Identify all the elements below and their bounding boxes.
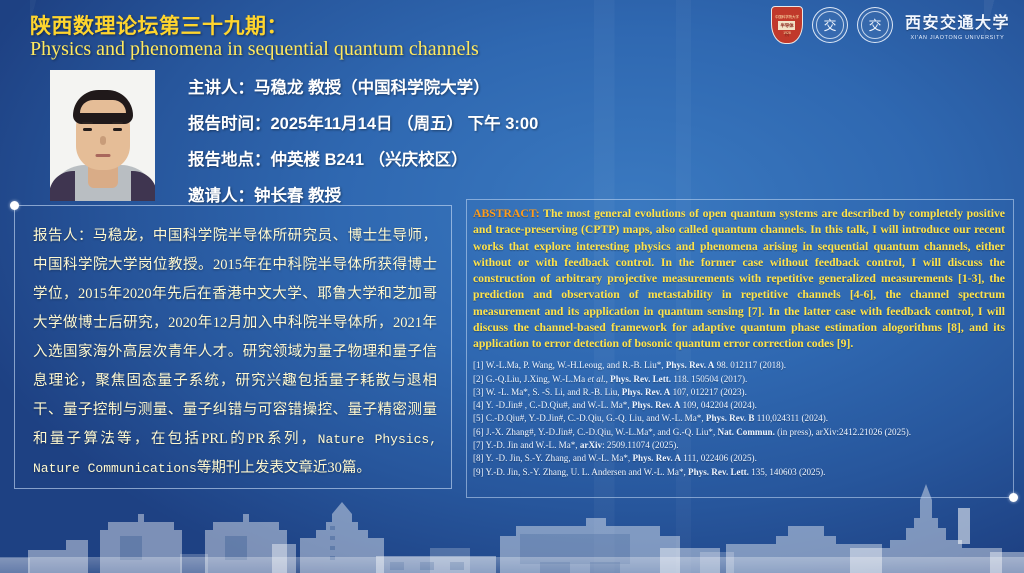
ref-authors: Y. -D.Jin# , C.-D.Qiu#, and W.-L. Ma*, — [486, 400, 632, 410]
ref-journal: Nat. Commun. — [718, 427, 775, 437]
ref-journal: Phys. Rev. A — [632, 400, 681, 410]
ref-journal: Phys. Rev. Lett. — [610, 374, 671, 384]
ref-detail: 135, 140603 (2025). — [749, 467, 826, 477]
ref-number: [1] — [473, 360, 484, 370]
ref-journal: Phys. Rev. A — [666, 360, 715, 370]
wordmark-english: XI'AN JIAOTONG UNIVERSITY — [911, 35, 1005, 41]
portrait-mouth — [95, 154, 110, 157]
ref-number: [3] — [473, 387, 484, 397]
reference-item: [6] J.-X. Zhang#, Y.-D.Jin#, C.-D.Qiu, W… — [473, 426, 1005, 439]
ref-journal: Phys. Rev. B — [706, 413, 755, 423]
ref-detail: : 2509.11074 (2025). — [602, 440, 678, 450]
ref-authors: C.-D.Qiu#, Y.-D.Jin#, C.-D.Qiu, G.-Q. Li… — [486, 413, 706, 423]
ref-detail: 109, 042204 (2024). — [680, 400, 757, 410]
reference-item: [8] Y. -D. Jin, S.-Y. Zhang, and W.-L. M… — [473, 452, 1005, 465]
seal-mark-icon: 交 — [823, 19, 836, 32]
reference-item: [1] W.-L.Ma, P. Wang, W.-H.Leoug, and R.… — [473, 359, 1005, 372]
ref-authors: Y.-D. Jin and W.-L. Ma*, — [486, 440, 580, 450]
ref-number: [5] — [473, 413, 484, 423]
bio-corner-dot — [10, 201, 19, 210]
seminar-poster: 陕西数理论坛第三十九期： Physics and phenomena in se… — [0, 0, 1024, 573]
portrait-eye-right — [113, 128, 122, 131]
reference-item: [4] Y. -D.Jin# , C.-D.Qiu#, and W.-L. Ma… — [473, 399, 1005, 412]
abstract-body: The most general evolutions of open quan… — [473, 207, 1005, 350]
page-title-english: Physics and phenomena in sequential quan… — [30, 38, 479, 61]
ref-detail: 107, 012217 (2023). — [670, 387, 747, 397]
university-seal-2: 交 — [857, 7, 893, 43]
info-location: 报告地点：仲英楼 B241 （兴庆校区） — [188, 146, 538, 170]
ref-journal: arXiv — [580, 440, 602, 450]
institute-shield-logo: 中国科学院大学 半导体所 1928 — [771, 6, 803, 44]
abstract-text: ABSTRACT: The most general evolutions of… — [473, 206, 1005, 352]
abstract-label: ABSTRACT: — [473, 207, 540, 220]
reference-item: [2] G.-Q.Liu, J.Xing, W.-L.Ma et al., Ph… — [473, 373, 1005, 386]
ref-number: [8] — [473, 453, 484, 463]
ref-number: [4] — [473, 400, 484, 410]
speaker-portrait-photo — [50, 70, 155, 201]
reference-item: [9] Y.-D. Jin, S.-Y. Zhang, U. L. Anders… — [473, 466, 1005, 479]
ref-journal: Phys. Rev. A — [622, 387, 671, 397]
biography-text: 报告人：马稳龙，中国科学院半导体所研究员、博士生导师，中国科学院大学岗位教授。2… — [15, 206, 451, 483]
ref-authors: W. -L. Ma*, S. -S. Li, and R.-B. Liu, — [486, 387, 622, 397]
ref-journal: Phys. Rev. A — [632, 453, 681, 463]
ref-authors: J.-X. Zhang#, Y.-D.Jin#, C.-D.Qiu, W.-L.… — [486, 427, 718, 437]
university-seal-1: 交 — [812, 7, 848, 43]
seminar-info-block: 主讲人：马稳龙 教授（中国科学院大学） 报告时间：2025年11月14日 （周五… — [188, 74, 538, 218]
reference-item: [3] W. -L. Ma*, S. -S. Li, and R.-B. Liu… — [473, 386, 1005, 399]
shield-top-text: 中国科学院大学 — [775, 15, 799, 19]
ref-authors: Y. -D. Jin, S.-Y. Zhang, and W.-L. Ma*, — [486, 453, 633, 463]
page-title-chinese: 陕西数理论坛第三十九期： — [30, 10, 288, 40]
ref-detail: 98. 012117 (2018). — [714, 360, 786, 370]
skyline-ground — [0, 557, 1024, 573]
abstract-corner-dot — [1009, 493, 1018, 502]
ref-number: [2] — [473, 374, 484, 384]
ref-authors: Y.-D. Jin, S.-Y. Zhang, U. L. Andersen a… — [486, 467, 689, 477]
info-time: 报告时间：2025年11月14日 （周五） 下午 3:00 — [188, 110, 538, 134]
reference-list: [1] W.-L.Ma, P. Wang, W.-H.Leoug, and R.… — [473, 359, 1005, 478]
ref-etal: et al. — [587, 374, 605, 384]
ref-number: [9] — [473, 467, 484, 477]
logo-group: 中国科学院大学 半导体所 1928 交 交 西安交通大学 XI'AN JIAOT… — [771, 6, 1010, 44]
portrait-eye-left — [83, 128, 92, 131]
speaker-biography-box: 报告人：马稳龙，中国科学院半导体所研究员、博士生导师，中国科学院大学岗位教授。2… — [14, 205, 452, 489]
reference-item: [5] C.-D.Qiu#, Y.-D.Jin#, C.-D.Qiu, G.-Q… — [473, 412, 1005, 425]
bio-paragraph-1: 报告人：马稳龙，中国科学院半导体所研究员、博士生导师，中国科学院大学岗位教授。2… — [33, 228, 437, 447]
ref-journal: Phys. Rev. Lett. — [688, 467, 749, 477]
reference-item: [7] Y.-D. Jin and W.-L. Ma*, arXiv: 2509… — [473, 439, 1005, 452]
university-wordmark: 西安交通大学 XI'AN JIAOTONG UNIVERSITY — [905, 9, 1010, 41]
shield-box-text: 半导体所 — [778, 21, 795, 30]
ref-detail: (in press), arXiv:2412.21026 (2025). — [775, 427, 911, 437]
bio-paragraph-2: 等期刊上发表文章近30篇。 — [197, 460, 371, 476]
wordmark-chinese: 西安交通大学 — [905, 9, 1010, 33]
seal-mark-icon: 交 — [868, 19, 881, 32]
portrait-hair — [73, 90, 133, 124]
abstract-box: ABSTRACT: The most general evolutions of… — [466, 199, 1014, 498]
ref-number: [7] — [473, 440, 484, 450]
shield-year: 1928 — [783, 31, 791, 35]
info-speaker: 主讲人：马稳龙 教授（中国科学院大学） — [188, 74, 538, 98]
ref-number: [6] — [473, 427, 484, 437]
portrait-nose — [100, 136, 106, 145]
ref-authors: G.-Q.Liu, J.Xing, W.-L.Ma — [486, 374, 588, 384]
ref-detail: 111, 022406 (2025). — [681, 453, 757, 463]
ref-authors: W.-L.Ma, P. Wang, W.-H.Leoug, and R.-B. … — [486, 360, 666, 370]
ref-detail: 118. 150504 (2017). — [671, 374, 747, 384]
ref-detail: 110,024311 (2024). — [754, 413, 828, 423]
